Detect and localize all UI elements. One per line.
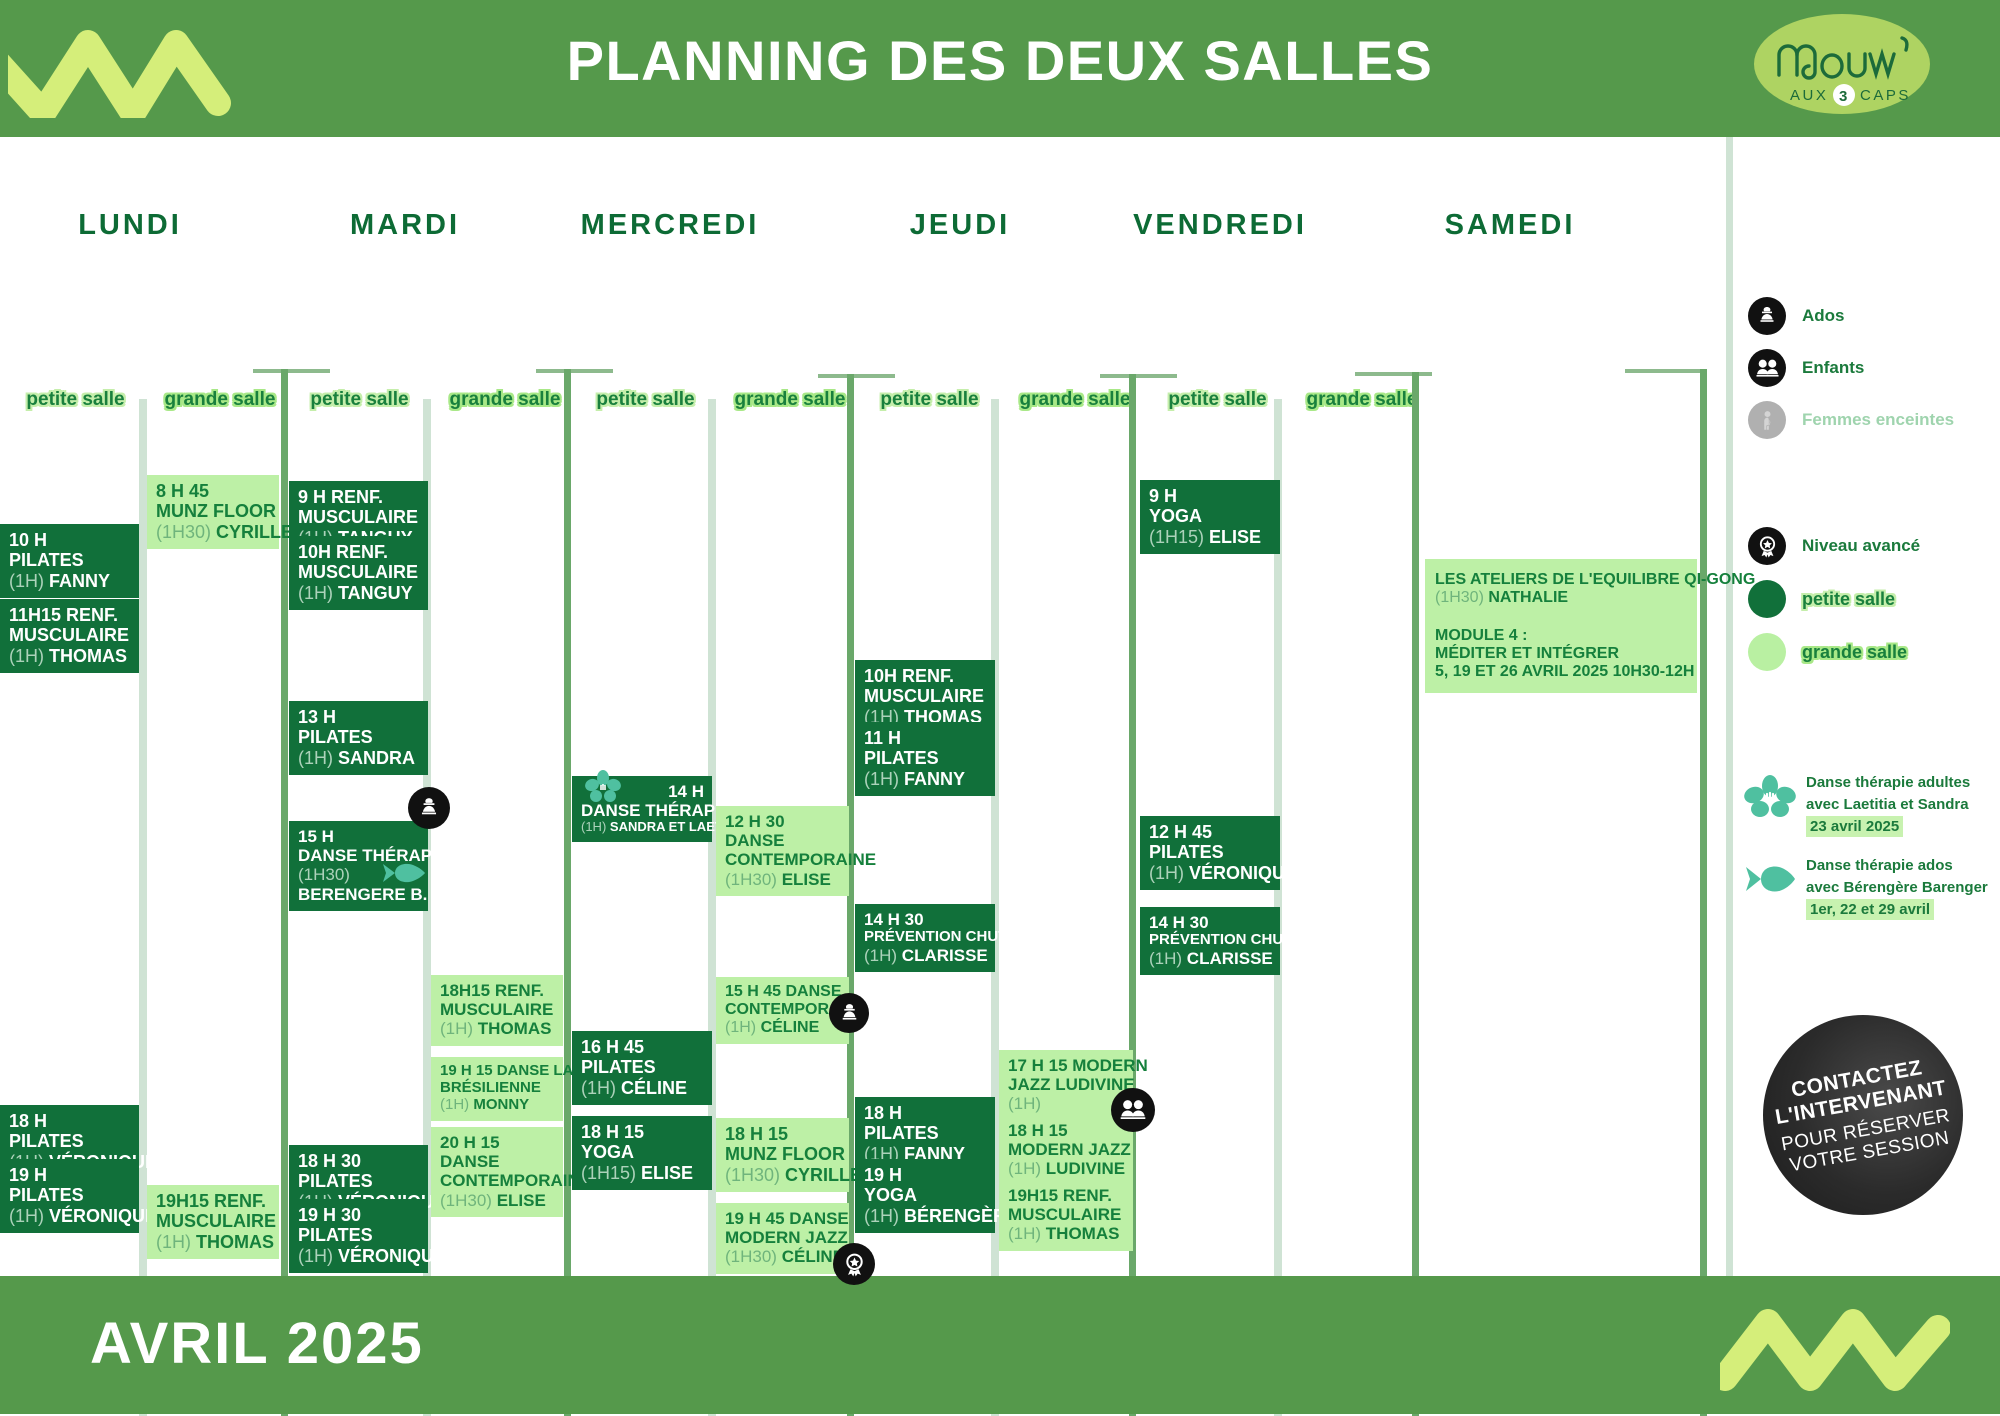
legend-label: petite salle xyxy=(1802,589,1895,610)
session-time: 20 H 15 xyxy=(440,1133,555,1152)
session-instructor: CÉLINE xyxy=(761,1019,820,1036)
session-time: 19 H 30 xyxy=(298,1205,420,1225)
session-card[interactable]: 18H15 RENF. MUSCULAIRE (1H) THOMAS xyxy=(431,975,563,1046)
legend-item-grande-salle: grande salle xyxy=(1748,633,1907,671)
session-card[interactable]: 19 H YOGA (1H) BÉRENGÈRE xyxy=(855,1159,995,1233)
session-card[interactable]: 11 H PILATES (1H) FANNY xyxy=(855,722,995,796)
session-duration: (1H) xyxy=(298,583,333,603)
session-activity: DANSE xyxy=(725,831,841,850)
session-card[interactable]: 18 H 15 MODERN JAZZ (1H) LUDIVINE xyxy=(999,1115,1133,1186)
session-time: 9 H RENF. xyxy=(298,487,420,507)
day-header-mardi: MARDI xyxy=(325,209,485,242)
legend-item-enfants: Enfants xyxy=(1748,349,1864,387)
session-activity: PILATES xyxy=(581,1057,704,1077)
session-time: 18 H 30 xyxy=(298,1151,420,1171)
session-time: 14 H 30 xyxy=(864,910,987,929)
column-separator xyxy=(1700,369,1707,1416)
day-header-lundi: LUNDI xyxy=(50,209,210,242)
session-duration: (1H) xyxy=(298,1246,333,1266)
legend-danse-therapie-ados: Danse thérapie ados avec Bérengère Baren… xyxy=(1744,855,1988,920)
legend-label: Niveau avancé xyxy=(1802,536,1920,556)
session-time: 10H RENF. xyxy=(298,542,420,562)
column-separator xyxy=(708,399,716,1416)
session-time: 18 H xyxy=(9,1111,131,1131)
session-activity: CONTEMPORAINE xyxy=(725,1001,841,1019)
svg-text:3: 3 xyxy=(1839,88,1847,105)
session-card[interactable]: 9 H YOGA (1H15) ELISE xyxy=(1140,480,1280,554)
session-activity: YOGA xyxy=(581,1142,704,1162)
svg-text:CAPS: CAPS xyxy=(1860,87,1911,104)
session-time: 17 H 15 MODERN xyxy=(1008,1056,1125,1075)
session-duration: (1H) xyxy=(9,1206,44,1226)
legend-danse-therapie-adultes: Danse thérapie adultes avec Laetitia et … xyxy=(1744,772,1970,837)
session-instructor: CLARISSE xyxy=(1187,949,1273,968)
session-time: 19 H 15 DANSE LATINE xyxy=(440,1063,555,1080)
therapy-date: 23 avril 2025 xyxy=(1806,816,1903,838)
room-label-petite-jeudi: petite salle xyxy=(862,389,997,411)
session-duration: (1H) xyxy=(581,1078,616,1098)
session-time: 18H15 RENF. xyxy=(440,981,555,1000)
session-time: 13 H xyxy=(298,707,420,727)
session-instructor: VÉRONIQUE xyxy=(338,1246,446,1266)
session-duration: (1H) xyxy=(1008,1094,1125,1113)
legend-item-petite-salle: petite salle xyxy=(1748,580,1895,618)
session-card[interactable]: 20 H 15 DANSE CONTEMPORAINE (1H30) ELISE xyxy=(431,1127,563,1217)
session-instructor: THOMAS xyxy=(1046,1224,1120,1243)
session-activity: MUSCULAIRE xyxy=(864,686,987,706)
schedule-board: LUNDI MARDI MERCREDI JEUDI VENDREDI SAME… xyxy=(0,137,1740,1276)
session-card[interactable]: 12 H 30 DANSE CONTEMPORAINE (1H30) ELISE xyxy=(716,806,849,896)
session-instructor: MONNY xyxy=(473,1096,529,1113)
session-activity: MUNZ FLOOR xyxy=(156,501,271,521)
session-duration: (1H15) xyxy=(581,1163,636,1183)
session-instructor: VÉRONIQUE xyxy=(49,1206,157,1226)
session-duration: (1H) xyxy=(864,946,897,965)
session-time: 11H15 RENF. xyxy=(9,605,131,625)
session-activity: MODERN JAZZ xyxy=(725,1228,841,1247)
session-time: 19H15 RENF. xyxy=(156,1191,271,1211)
legend-label: Ados xyxy=(1802,306,1845,326)
session-activity: YOGA xyxy=(1149,506,1272,526)
day-bracket xyxy=(818,374,895,378)
session-card[interactable]: 19 H PILATES (1H) VÉRONIQUE xyxy=(0,1159,139,1233)
page-header: PLANNING DES DEUX SALLES AUX 3 CAPS xyxy=(0,0,2000,137)
day-header-vendredi: VENDREDI xyxy=(1120,209,1320,242)
session-duration: (1H30) xyxy=(725,1247,777,1266)
session-activity: JAZZ LUDIVINE xyxy=(1008,1075,1125,1094)
session-activity: YOGA xyxy=(864,1185,987,1205)
session-card[interactable]: 19H15 RENF. MUSCULAIRE (1H) THOMAS xyxy=(147,1185,279,1259)
session-card[interactable]: 8 H 45 MUNZ FLOOR (1H30) CYRILLE xyxy=(147,475,279,549)
session-time: 18 H 15 xyxy=(725,1124,841,1144)
session-time: 18 H 15 xyxy=(1008,1121,1125,1140)
day-bracket xyxy=(536,369,613,373)
legend-label: Enfants xyxy=(1802,358,1864,378)
session-time: 18 H xyxy=(864,1103,987,1123)
contact-badge[interactable]: CONTACTEZ L'INTERVENANT POUR RÉSERVER VO… xyxy=(1763,1015,1963,1215)
session-instructor: CLARISSE xyxy=(902,946,988,965)
session-module-dates: 5, 19 ET 26 AVRIL 2025 10H30-12H xyxy=(1435,663,1687,681)
ados-icon xyxy=(829,993,869,1033)
session-card[interactable]: 12 H 45 PILATES (1H) VÉRONIQUE xyxy=(1140,816,1280,890)
session-instructor: THOMAS xyxy=(196,1232,274,1252)
session-instructor: CYRILLE xyxy=(785,1165,862,1185)
grande-salle-swatch xyxy=(1748,633,1786,671)
session-duration: (1H) xyxy=(9,646,44,666)
session-activity: MODERN JAZZ xyxy=(1008,1140,1125,1159)
session-card-samedi[interactable]: LES ATELIERS DE L'EQUILIBRE QI-GONG (1H3… xyxy=(1425,559,1697,693)
column-separator xyxy=(1412,372,1419,1416)
session-instructor: FANNY xyxy=(49,571,110,591)
session-instructor: CYRILLE xyxy=(216,522,293,542)
session-time: 18 H 15 xyxy=(581,1122,704,1142)
session-activity: PRÉVENTION CHUTES xyxy=(1149,932,1272,949)
session-duration: (1H) xyxy=(1008,1159,1041,1178)
column-separator xyxy=(564,369,571,1416)
session-activity: MUSCULAIRE xyxy=(1008,1205,1125,1224)
right-panel-divider xyxy=(1726,137,1733,1276)
session-time: 15 H 45 DANSE xyxy=(725,983,841,1001)
session-duration: (1H) xyxy=(864,1206,899,1226)
enfants-icon xyxy=(1748,349,1786,387)
session-instructor: NATHALIE xyxy=(1488,589,1568,606)
session-activity: MUSCULAIRE xyxy=(298,507,420,527)
column-separator xyxy=(139,399,147,1416)
session-duration: (1H) xyxy=(440,1096,469,1113)
room-label-grande-mercredi: grande salle xyxy=(715,389,865,411)
session-activity: BRÉSILIENNE xyxy=(440,1080,555,1097)
session-duration: (1H30) xyxy=(156,522,211,542)
session-module-sub: MÉDITER ET INTÉGRER xyxy=(1435,645,1687,663)
day-bracket xyxy=(1100,374,1177,378)
room-label-grande-jeudi: grande salle xyxy=(1000,389,1150,411)
session-instructor: ELISE xyxy=(497,1191,546,1210)
session-card[interactable]: 14 H 30 PRÉVENTION CHUTES (1H) CLARISSE xyxy=(855,904,995,972)
session-duration: (1H) xyxy=(864,769,899,789)
session-module: MODULE 4 : xyxy=(1435,627,1687,645)
footer-month: AVRIL 2025 xyxy=(90,1310,424,1377)
session-card[interactable]: 19H15 RENF. MUSCULAIRE (1H) THOMAS xyxy=(999,1180,1133,1251)
session-activity: MUSCULAIRE xyxy=(440,1000,555,1019)
room-label-grande-lundi: grande salle xyxy=(145,389,295,411)
session-duration: (1H30) xyxy=(725,1165,780,1185)
day-header-jeudi: JEUDI xyxy=(880,209,1040,242)
session-card[interactable]: 10H RENF. MUSCULAIRE (1H) TANGUY xyxy=(289,536,428,610)
therapy-line2: avec Bérengère Barenger xyxy=(1806,877,1988,899)
session-instructor: THOMAS xyxy=(478,1019,552,1038)
session-duration: (1H) xyxy=(156,1232,191,1252)
session-time: 10 H xyxy=(9,530,131,550)
session-instructor: ELISE xyxy=(782,870,831,889)
session-activity: PILATES xyxy=(1149,842,1272,862)
session-activity: MUSCULAIRE xyxy=(298,562,420,582)
session-time: 15 H xyxy=(298,827,420,846)
room-label-petite-mercredi: petite salle xyxy=(578,389,713,411)
session-time: 11 H xyxy=(864,728,987,748)
session-duration: (1H30) xyxy=(440,1191,492,1210)
fish-icon xyxy=(381,860,427,886)
session-card[interactable]: 10 H PILATES (1H) FANNY xyxy=(0,524,139,598)
session-duration: (1H30) xyxy=(725,870,777,889)
session-time: 12 H 30 xyxy=(725,812,841,831)
session-instructor: SANDRA xyxy=(338,748,415,768)
session-activity: PILATES xyxy=(9,1131,131,1151)
session-activity: PRÉVENTION CHUTES xyxy=(864,929,987,946)
room-label-grande-mardi: grande salle xyxy=(430,389,580,411)
session-instructor: LUDIVINE xyxy=(1046,1159,1125,1178)
session-activity: PILATES xyxy=(9,1185,131,1205)
legend-label: grande salle xyxy=(1802,642,1907,663)
day-bracket xyxy=(1355,372,1432,376)
day-header-mercredi: MERCREDI xyxy=(570,209,770,242)
session-card[interactable]: 19 H 30 PILATES (1H) VÉRONIQUE xyxy=(289,1199,428,1273)
session-card[interactable]: 11H15 RENF. MUSCULAIRE (1H) THOMAS xyxy=(0,599,139,673)
svg-text:AUX: AUX xyxy=(1790,87,1828,104)
mouv-zigzag-logo-footer xyxy=(1720,1300,1950,1392)
session-instructor: ELISE xyxy=(641,1163,693,1183)
session-duration: (1H30) xyxy=(1435,589,1484,606)
session-card[interactable]: 18 H 15 YOGA (1H15) ELISE xyxy=(572,1116,712,1190)
session-time: 19 H xyxy=(864,1165,987,1185)
session-duration: (1H15) xyxy=(1149,527,1204,547)
session-title: LES ATELIERS DE L'EQUILIBRE QI-GONG xyxy=(1435,571,1687,589)
session-duration: (1H) xyxy=(440,1019,473,1038)
session-card[interactable]: 18 H 15 MUNZ FLOOR (1H30) CYRILLE xyxy=(716,1118,849,1192)
day-bracket xyxy=(1625,369,1702,373)
day-bracket xyxy=(253,369,330,373)
session-time: 19 H 45 DANSE xyxy=(725,1209,841,1228)
session-duration: (1H) xyxy=(1008,1224,1041,1243)
session-activity: PILATES xyxy=(298,727,420,747)
session-time: 8 H 45 xyxy=(156,481,271,501)
column-separator xyxy=(1129,374,1136,1416)
therapy-line1: Danse thérapie adultes xyxy=(1806,772,1970,794)
session-duration: (1H) xyxy=(9,571,44,591)
femmes-enceintes-icon xyxy=(1748,401,1786,439)
session-activity: MUSCULAIRE xyxy=(156,1211,271,1231)
session-time: 9 H xyxy=(1149,486,1272,506)
day-header-samedi: SAMEDI xyxy=(1420,209,1600,242)
session-card[interactable]: 19 H 15 DANSE LATINE BRÉSILIENNE (1H) MO… xyxy=(431,1057,563,1121)
session-instructor: TANGUY xyxy=(338,583,413,603)
session-card[interactable]: 16 H 45 PILATES (1H) CÉLINE xyxy=(572,1031,712,1105)
page-title: PLANNING DES DEUX SALLES xyxy=(0,28,2000,93)
session-activity: PILATES xyxy=(864,748,987,768)
enfants-icon xyxy=(1111,1088,1155,1132)
medal-icon xyxy=(1748,527,1786,565)
session-card[interactable]: 14 H 30 PRÉVENTION CHUTES (1H) CLARISSE xyxy=(1140,907,1280,975)
medal-icon xyxy=(833,1243,875,1285)
session-activity: PILATES xyxy=(864,1123,987,1143)
session-activity: PILATES xyxy=(298,1171,420,1191)
therapy-line2: avec Laetitia et Sandra xyxy=(1806,794,1970,816)
session-duration: (1H) xyxy=(298,748,333,768)
session-activity: MUNZ FLOOR xyxy=(725,1144,841,1164)
session-activity: PILATES xyxy=(9,550,131,570)
session-duration: (1H) xyxy=(1149,863,1184,883)
session-time: 16 H 45 xyxy=(581,1037,704,1057)
session-duration: (1H) xyxy=(725,1019,756,1036)
ados-icon xyxy=(1748,297,1786,335)
session-instructor: BERENGERE B. xyxy=(298,885,420,904)
session-instructor: FANNY xyxy=(904,769,965,789)
legend-label: Femmes enceintes xyxy=(1802,410,1954,430)
room-label-petite-mardi: petite salle xyxy=(292,389,427,411)
session-time: 14 H 30 xyxy=(1149,913,1272,932)
session-card[interactable]: 19 H 45 DANSE MODERN JAZZ (1H30) CÉLINE xyxy=(716,1203,849,1274)
room-label-petite-lundi: petite salle xyxy=(8,389,143,411)
flower-icon xyxy=(1744,774,1796,818)
session-time: 12 H 45 xyxy=(1149,822,1272,842)
therapy-line1: Danse thérapie ados xyxy=(1806,855,1988,877)
legend-item-niveau-avance: Niveau avancé xyxy=(1748,527,1920,565)
session-instructor: THOMAS xyxy=(49,646,127,666)
session-activity-2: CONTEMPORAINE xyxy=(440,1171,555,1190)
room-label-petite-vendredi: petite salle xyxy=(1150,389,1285,411)
session-activity: DANSE THÉRAPIE xyxy=(581,801,704,820)
session-time: 19H15 RENF. xyxy=(1008,1186,1125,1205)
fish-icon xyxy=(1744,857,1796,901)
session-duration: (1H) xyxy=(581,819,606,834)
session-activity: DANSE xyxy=(440,1152,555,1171)
flower-icon xyxy=(585,769,621,803)
session-instructor: VÉRONIQUE xyxy=(1189,863,1297,883)
legend-item-femmes-enceintes: Femmes enceintes xyxy=(1748,401,1954,439)
session-duration: (1H) xyxy=(1149,949,1182,968)
session-activity: PILATES xyxy=(298,1225,420,1245)
therapy-date: 1er, 22 et 29 avril xyxy=(1806,899,1934,921)
petite-salle-swatch xyxy=(1748,580,1786,618)
ados-icon xyxy=(408,787,450,829)
session-activity: MUSCULAIRE xyxy=(9,625,131,645)
session-time: 19 H xyxy=(9,1165,131,1185)
brand-logo: AUX 3 CAPS xyxy=(1752,8,1932,121)
session-instructor: CÉLINE xyxy=(621,1078,687,1098)
session-card[interactable]: 13 H PILATES (1H) SANDRA xyxy=(289,701,428,775)
legend-item-ados: Ados xyxy=(1748,297,1845,335)
session-time: 10H RENF. xyxy=(864,666,987,686)
session-instructor: ELISE xyxy=(1209,527,1261,547)
session-activity-2: CONTEMPORAINE xyxy=(725,850,841,869)
